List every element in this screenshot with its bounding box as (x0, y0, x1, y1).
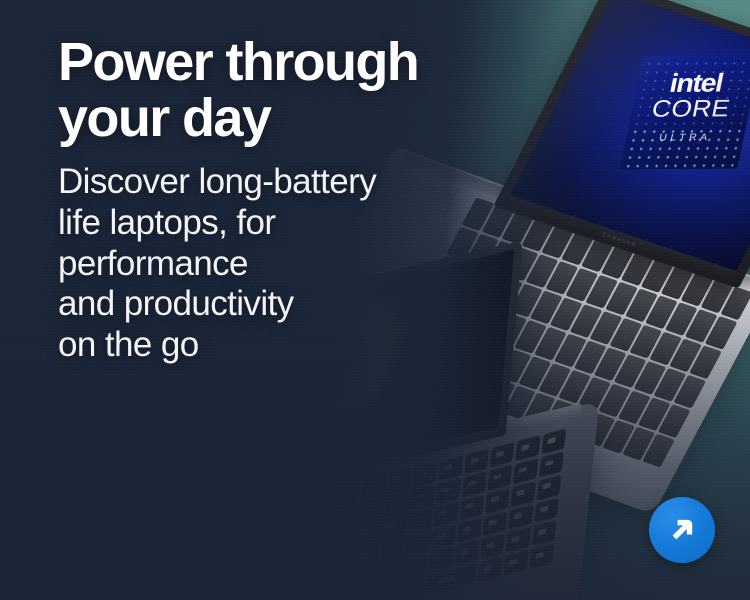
arrow-up-right-icon (665, 513, 699, 547)
subheading-line-4: and productivity (58, 284, 294, 323)
promo-banner: intel CORE ULTRA SAMSUNG (0, 0, 750, 600)
headline-line-2: your day (58, 88, 270, 148)
page-title: Power through your day (58, 34, 510, 146)
headline-line-1: Power through (58, 32, 418, 92)
subheading-line-5: on the go (58, 325, 199, 364)
banner-subheading: Discover long-battery life laptops, for … (58, 162, 510, 365)
cta-arrow-button[interactable] (649, 497, 715, 563)
subheading-line-2: life laptops, for (58, 203, 275, 242)
subheading-line-3: performance (58, 244, 248, 283)
subheading-line-1: Discover long-battery (58, 162, 376, 201)
banner-copy: Power through your day Discover long-bat… (58, 34, 510, 365)
